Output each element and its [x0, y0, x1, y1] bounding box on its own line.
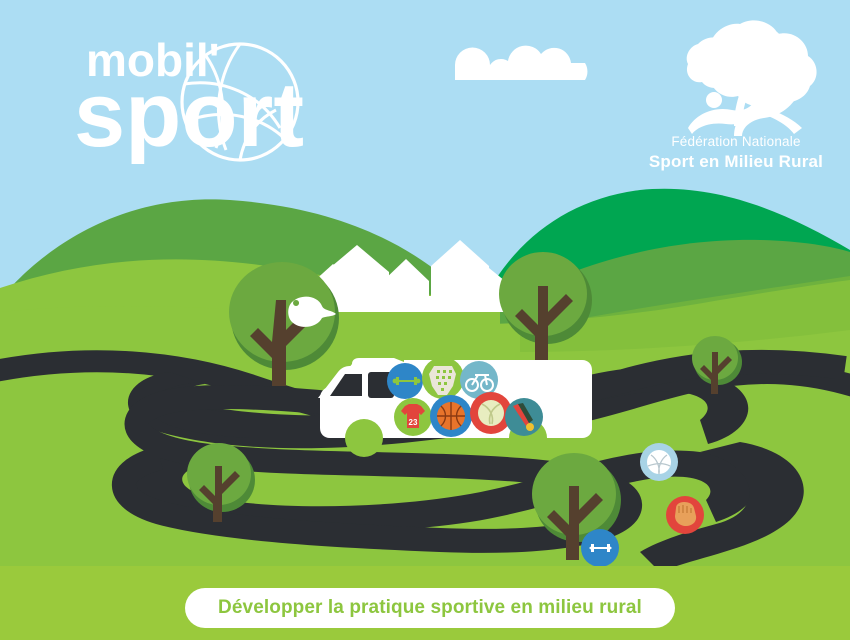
- badge-climbing-wall[interactable]: [422, 357, 464, 399]
- tagline-pill: Développer la pratique sportive en milie…: [185, 588, 675, 628]
- badge-dumbbell-blue[interactable]: [581, 529, 619, 567]
- badge-boxing-glove[interactable]: [666, 496, 704, 534]
- jersey-number: 23: [409, 418, 418, 427]
- badge-volleyball[interactable]: [640, 443, 678, 481]
- fnsmr-emblem-icon: [636, 18, 836, 138]
- fnsmr-logo: Fédération Nationale Sport en Milieu Rur…: [636, 18, 836, 196]
- badge-badminton[interactable]: [505, 398, 543, 436]
- badge-jersey[interactable]: 23: [394, 398, 432, 436]
- van-wheel-front: [345, 419, 383, 457]
- badge-basketball[interactable]: [430, 395, 472, 437]
- badge-dumbbell[interactable]: [387, 363, 423, 399]
- mobilsport-logo: mobil' sport: [44, 24, 404, 164]
- poster-root: 23: [0, 0, 850, 640]
- fnsmr-line1: Fédération Nationale: [636, 134, 836, 149]
- tagline-text: Développer la pratique sportive en milie…: [218, 597, 642, 619]
- fnsmr-line2: Sport en Milieu Rural: [636, 152, 836, 172]
- house-base: [312, 296, 512, 312]
- logo-word-bottom: sport: [74, 64, 304, 164]
